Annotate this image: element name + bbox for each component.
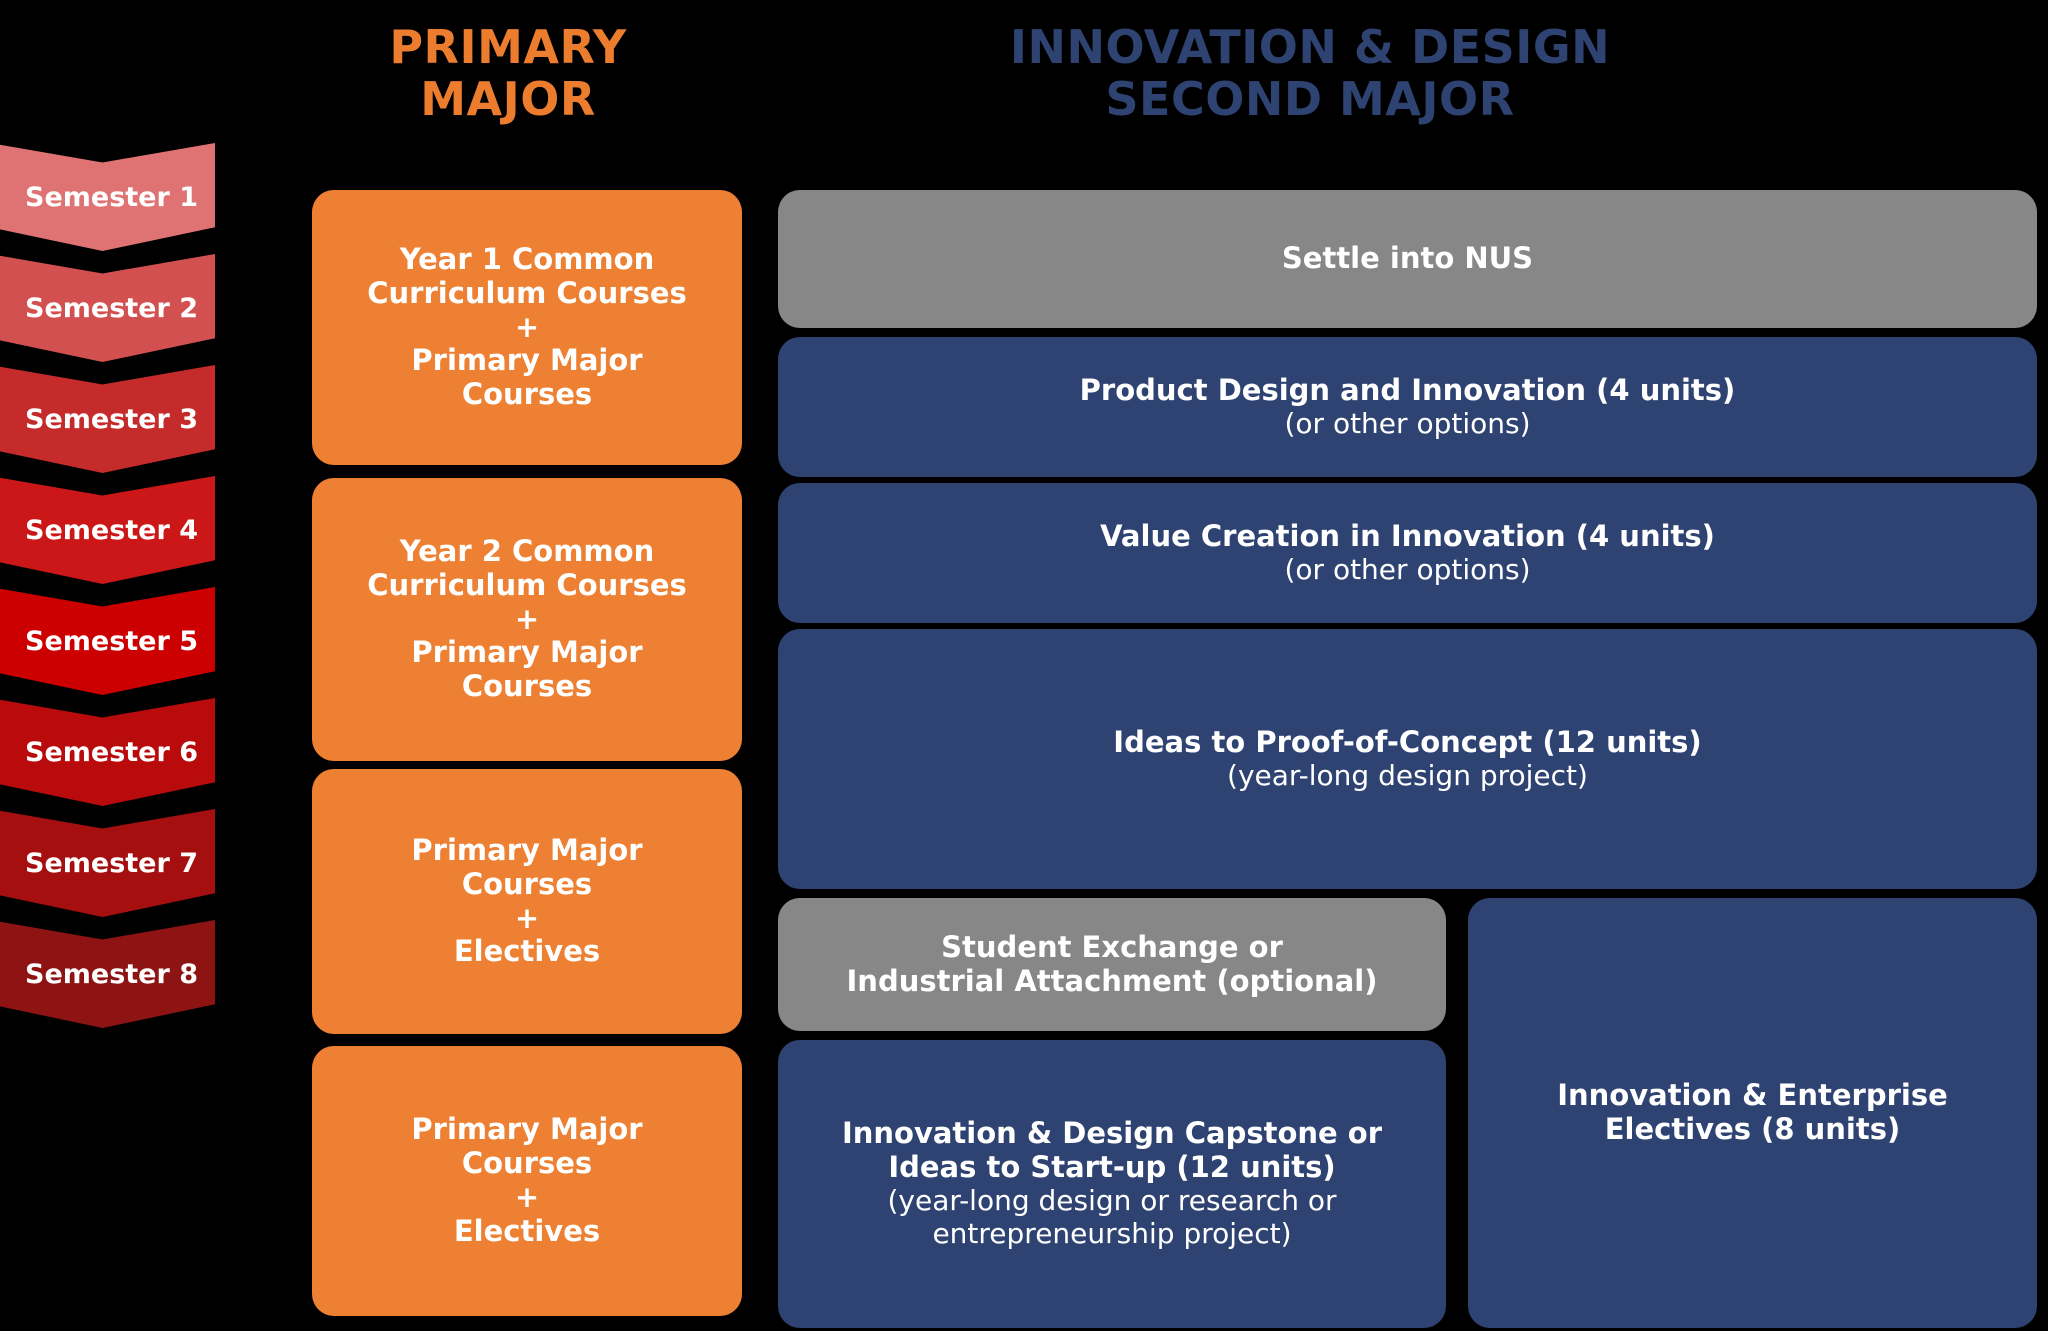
card-plus: + <box>515 902 539 936</box>
primary-major-heading: PRIMARY MAJOR <box>268 22 748 125</box>
card-title: Settle into NUS <box>1282 242 1533 276</box>
card-line-2: Curriculum Courses <box>367 277 687 311</box>
card-subtitle-line-2: entrepreneurship project) <box>932 1218 1291 1251</box>
card-line-3: Primary Major <box>411 636 642 670</box>
semester-rail: Semester 1 Semester 2 Semester 3 Semeste… <box>0 143 215 1031</box>
semester-label-3: Semester 3 <box>7 404 198 435</box>
semester-chevron-8: Semester 8 <box>0 920 215 1028</box>
semester-label-2: Semester 2 <box>7 293 198 324</box>
card-plus: + <box>515 603 539 637</box>
card-line-1: Year 2 Common <box>400 535 654 569</box>
semester-label-5: Semester 5 <box>7 626 198 657</box>
card-title: Product Design and Innovation (4 units) <box>1080 374 1736 408</box>
card-line-4: Courses <box>462 670 592 704</box>
semester-label-6: Semester 6 <box>7 737 198 768</box>
semester-chevron-5: Semester 5 <box>0 587 215 695</box>
semester-label-4: Semester 4 <box>7 515 198 546</box>
card-title-line-2: Electives (8 units) <box>1605 1113 1900 1147</box>
second-major-card-product-design: Product Design and Innovation (4 units) … <box>778 337 2037 477</box>
second-major-card-proof-of-concept: Ideas to Proof-of-Concept (12 units) (ye… <box>778 629 2037 889</box>
card-title-line-1: Innovation & Design Capstone or <box>842 1117 1382 1151</box>
semester-chevron-2: Semester 2 <box>0 254 215 362</box>
card-plus: + <box>515 1181 539 1215</box>
second-major-card-student-exchange: Student Exchange or Industrial Attachmen… <box>778 898 1446 1031</box>
card-title-line-1: Student Exchange or <box>941 931 1283 965</box>
primary-major-heading-line1: PRIMARY <box>268 22 748 74</box>
semester-label-7: Semester 7 <box>7 848 198 879</box>
second-major-heading: INNOVATION & DESIGN SECOND MAJOR <box>760 22 1860 125</box>
second-major-heading-line2: SECOND MAJOR <box>760 74 1860 126</box>
card-line-1: Year 1 Common <box>400 243 654 277</box>
semester-chevron-6: Semester 6 <box>0 698 215 806</box>
card-line-4: Courses <box>462 378 592 412</box>
card-line-1: Primary Major <box>411 834 642 868</box>
card-line-1: Primary Major <box>411 1113 642 1147</box>
card-subtitle: (or other options) <box>1284 554 1530 587</box>
card-title-line-2: Industrial Attachment (optional) <box>847 965 1378 999</box>
semester-label-8: Semester 8 <box>7 959 198 990</box>
primary-major-heading-line2: MAJOR <box>268 74 748 126</box>
card-line-2: Courses <box>462 868 592 902</box>
semester-chevron-1: Semester 1 <box>0 143 215 251</box>
semester-chevron-3: Semester 3 <box>0 365 215 473</box>
card-title-line-2: Ideas to Start-up (12 units) <box>888 1151 1335 1185</box>
card-plus: + <box>515 311 539 345</box>
second-major-card-enterprise-electives: Innovation & Enterprise Electives (8 uni… <box>1468 898 2037 1328</box>
semester-label-1: Semester 1 <box>7 182 198 213</box>
card-title-line-1: Innovation & Enterprise <box>1557 1079 1948 1113</box>
second-major-heading-line1: INNOVATION & DESIGN <box>760 22 1860 74</box>
semester-chevron-7: Semester 7 <box>0 809 215 917</box>
curriculum-roadmap-diagram: PRIMARY MAJOR INNOVATION & DESIGN SECOND… <box>0 0 2048 1331</box>
card-title: Ideas to Proof-of-Concept (12 units) <box>1113 726 1701 760</box>
card-subtitle: (year-long design project) <box>1227 760 1588 793</box>
primary-major-card-year4: Primary Major Courses + Electives <box>312 1046 742 1316</box>
second-major-card-capstone: Innovation & Design Capstone or Ideas to… <box>778 1040 1446 1328</box>
card-line-2: Courses <box>462 1147 592 1181</box>
primary-major-card-year3: Primary Major Courses + Electives <box>312 769 742 1034</box>
card-line-3: Electives <box>454 935 600 969</box>
card-line-2: Curriculum Courses <box>367 569 687 603</box>
card-line-3: Electives <box>454 1215 600 1249</box>
card-subtitle-line-1: (year-long design or research or <box>887 1185 1336 1218</box>
primary-major-card-year2: Year 2 Common Curriculum Courses + Prima… <box>312 478 742 761</box>
semester-chevron-4: Semester 4 <box>0 476 215 584</box>
card-line-3: Primary Major <box>411 344 642 378</box>
primary-major-card-year1: Year 1 Common Curriculum Courses + Prima… <box>312 190 742 465</box>
card-title: Value Creation in Innovation (4 units) <box>1100 520 1715 554</box>
second-major-card-value-creation: Value Creation in Innovation (4 units) (… <box>778 483 2037 623</box>
second-major-card-settle-into-nus: Settle into NUS <box>778 190 2037 328</box>
card-subtitle: (or other options) <box>1284 408 1530 441</box>
